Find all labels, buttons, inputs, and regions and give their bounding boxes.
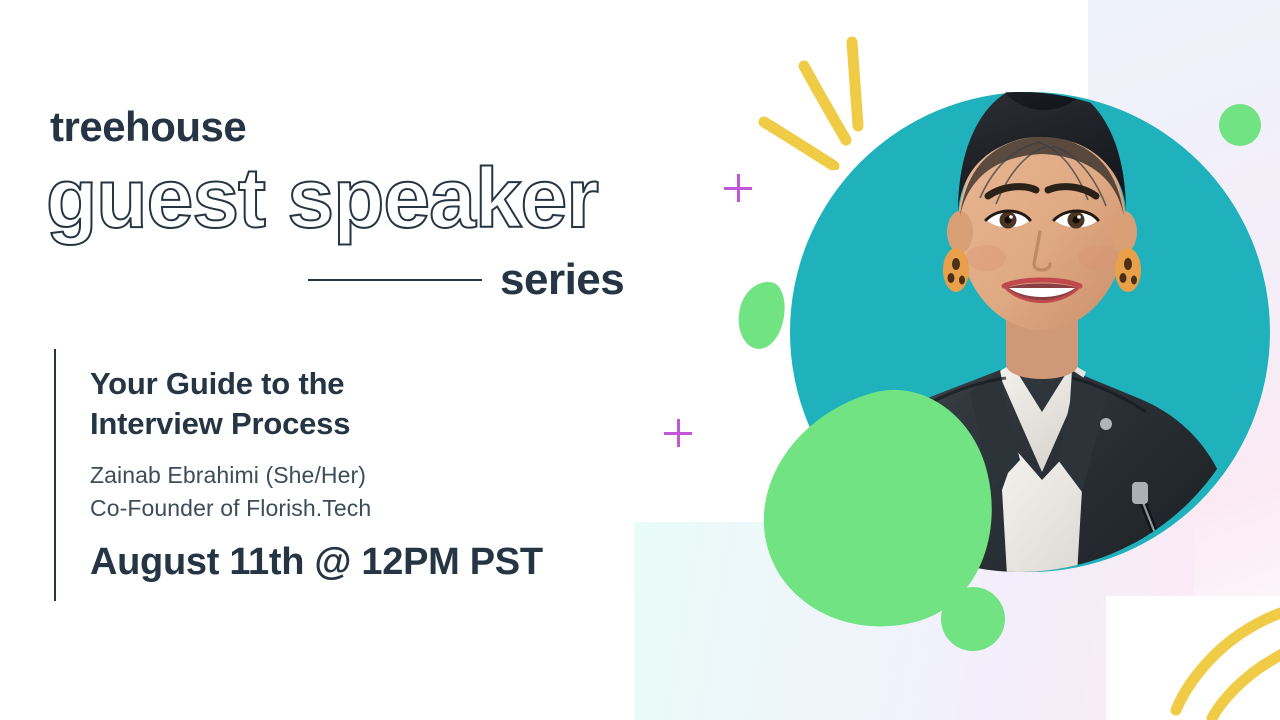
series-label: series bbox=[500, 258, 624, 302]
detail-vertical-rule bbox=[54, 349, 56, 601]
talk-title-line-2: Interview Process bbox=[90, 406, 350, 441]
yellow-burst-strokes-group bbox=[750, 30, 890, 170]
yellow-curve-strokes-group bbox=[1160, 590, 1280, 720]
talk-details-block: Your Guide to the Interview Process Zain… bbox=[90, 364, 610, 584]
magenta-plus-icon bbox=[664, 419, 692, 447]
green-blob-small-shape bbox=[732, 277, 790, 353]
promo-graphic-canvas: treehouse guest speaker series Your Guid… bbox=[0, 0, 1280, 720]
green-dot-bottom-shape bbox=[941, 587, 1005, 651]
headline-outline-text: guest speaker bbox=[46, 156, 598, 242]
talk-title-line-1: Your Guide to the bbox=[90, 366, 344, 401]
speaker-name: Zainab Ebrahimi (She/Her) bbox=[90, 459, 610, 491]
series-divider-rule bbox=[308, 279, 482, 281]
speaker-role: Co-Founder of Florish.Tech bbox=[90, 492, 610, 524]
series-row: series bbox=[308, 252, 624, 308]
brand-name: treehouse bbox=[50, 106, 246, 148]
magenta-plus-icon bbox=[724, 174, 752, 202]
event-datetime: August 11th @ 12PM PST bbox=[90, 542, 610, 584]
talk-title: Your Guide to the Interview Process bbox=[90, 364, 610, 443]
